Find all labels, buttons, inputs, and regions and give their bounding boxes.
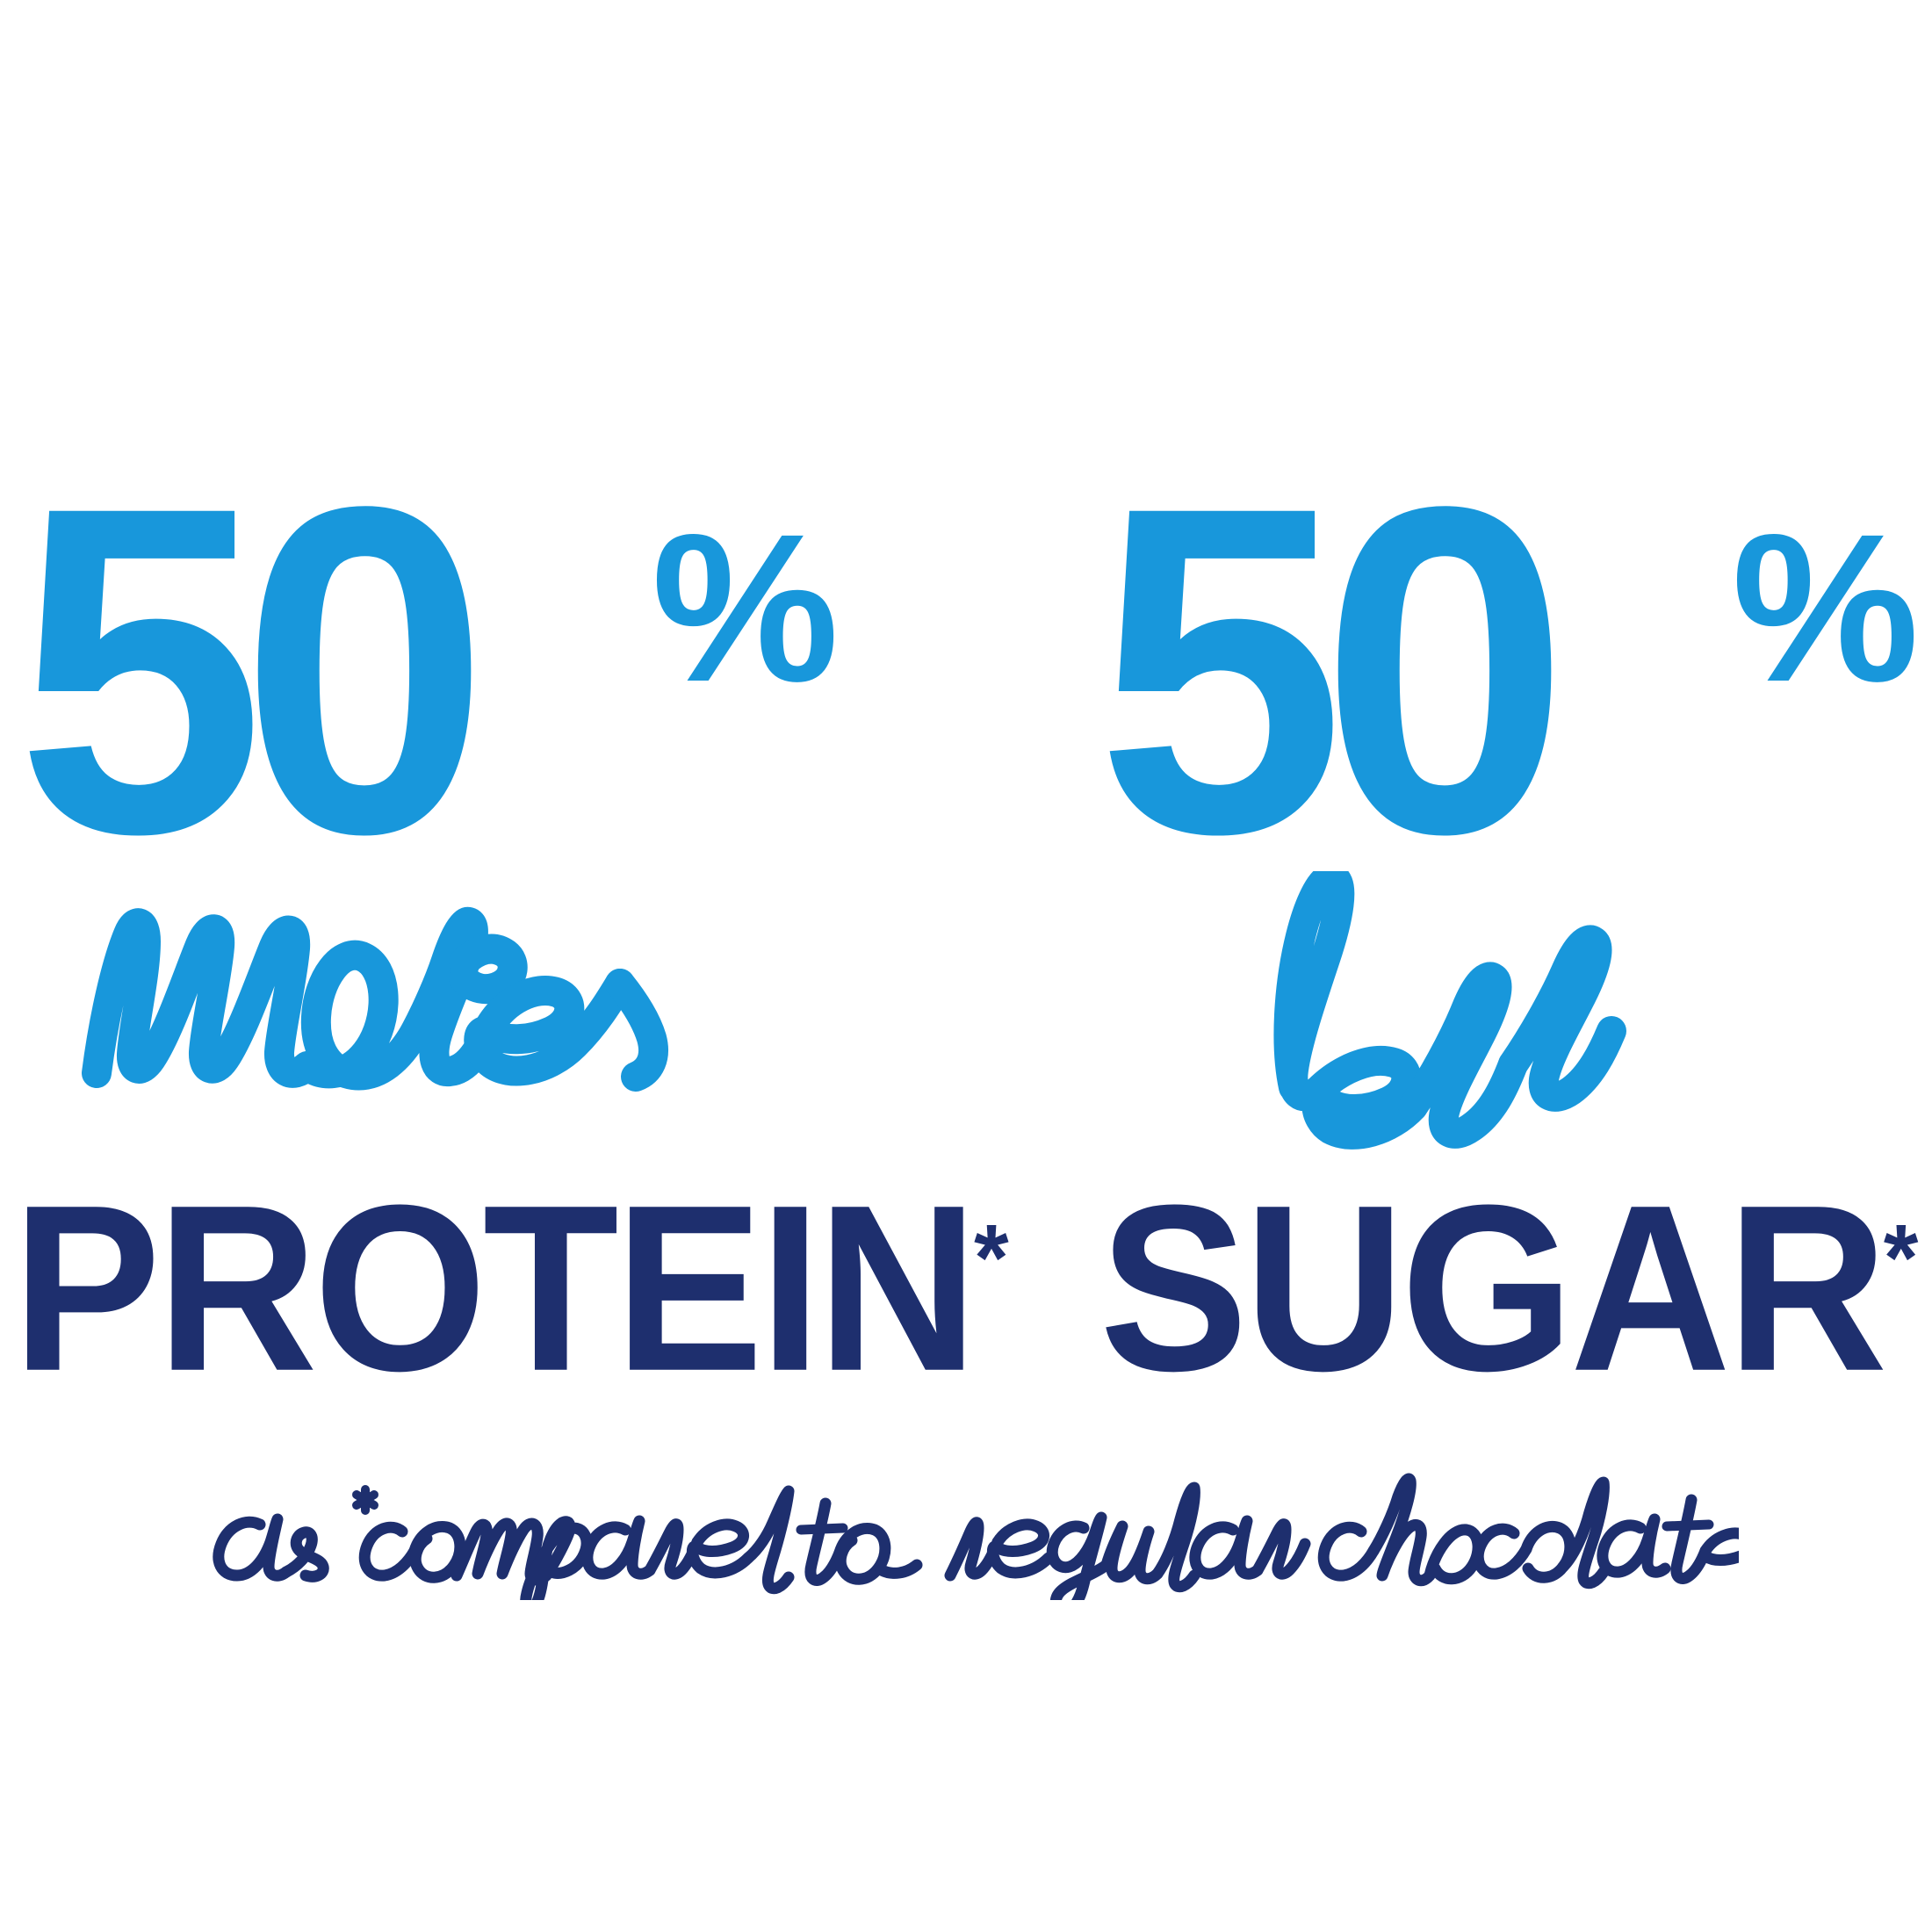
percent-row-sugar: 50 % [966, 492, 1932, 861]
percent-sign-protein: % [652, 502, 839, 713]
percent-value-sugar: 50 [1096, 437, 1545, 903]
marketing-claim-graphic: 50 % PRO [0, 0, 1932, 1932]
percent-row-protein: 50 % [0, 492, 966, 861]
footnote-script-art: as *compared to regular chocolate milk [193, 1468, 1739, 1600]
footnote-marker-sugar: * [1884, 1204, 1918, 1310]
percent-value-protein: 50 [16, 437, 465, 903]
footnote-line: as *compared to regular chocolate milk [0, 1468, 1932, 1604]
nutrient-label-protein: PROTEIN* [12, 1170, 1009, 1407]
script-word-more [77, 869, 692, 1133]
nutrient-word-sugar: SUGAR [1099, 1156, 1884, 1420]
nutrient-word-protein: PROTEIN [12, 1156, 974, 1420]
claim-block-protein: 50 % PRO [0, 492, 966, 861]
footnote-marker-protein: * [974, 1204, 1008, 1310]
percent-sign-sugar: % [1732, 502, 1919, 713]
claim-block-sugar: 50 % SUGAR* [966, 492, 1932, 861]
script-word-less [1190, 871, 1682, 1152]
nutrient-label-sugar: SUGAR* [1099, 1170, 1918, 1407]
